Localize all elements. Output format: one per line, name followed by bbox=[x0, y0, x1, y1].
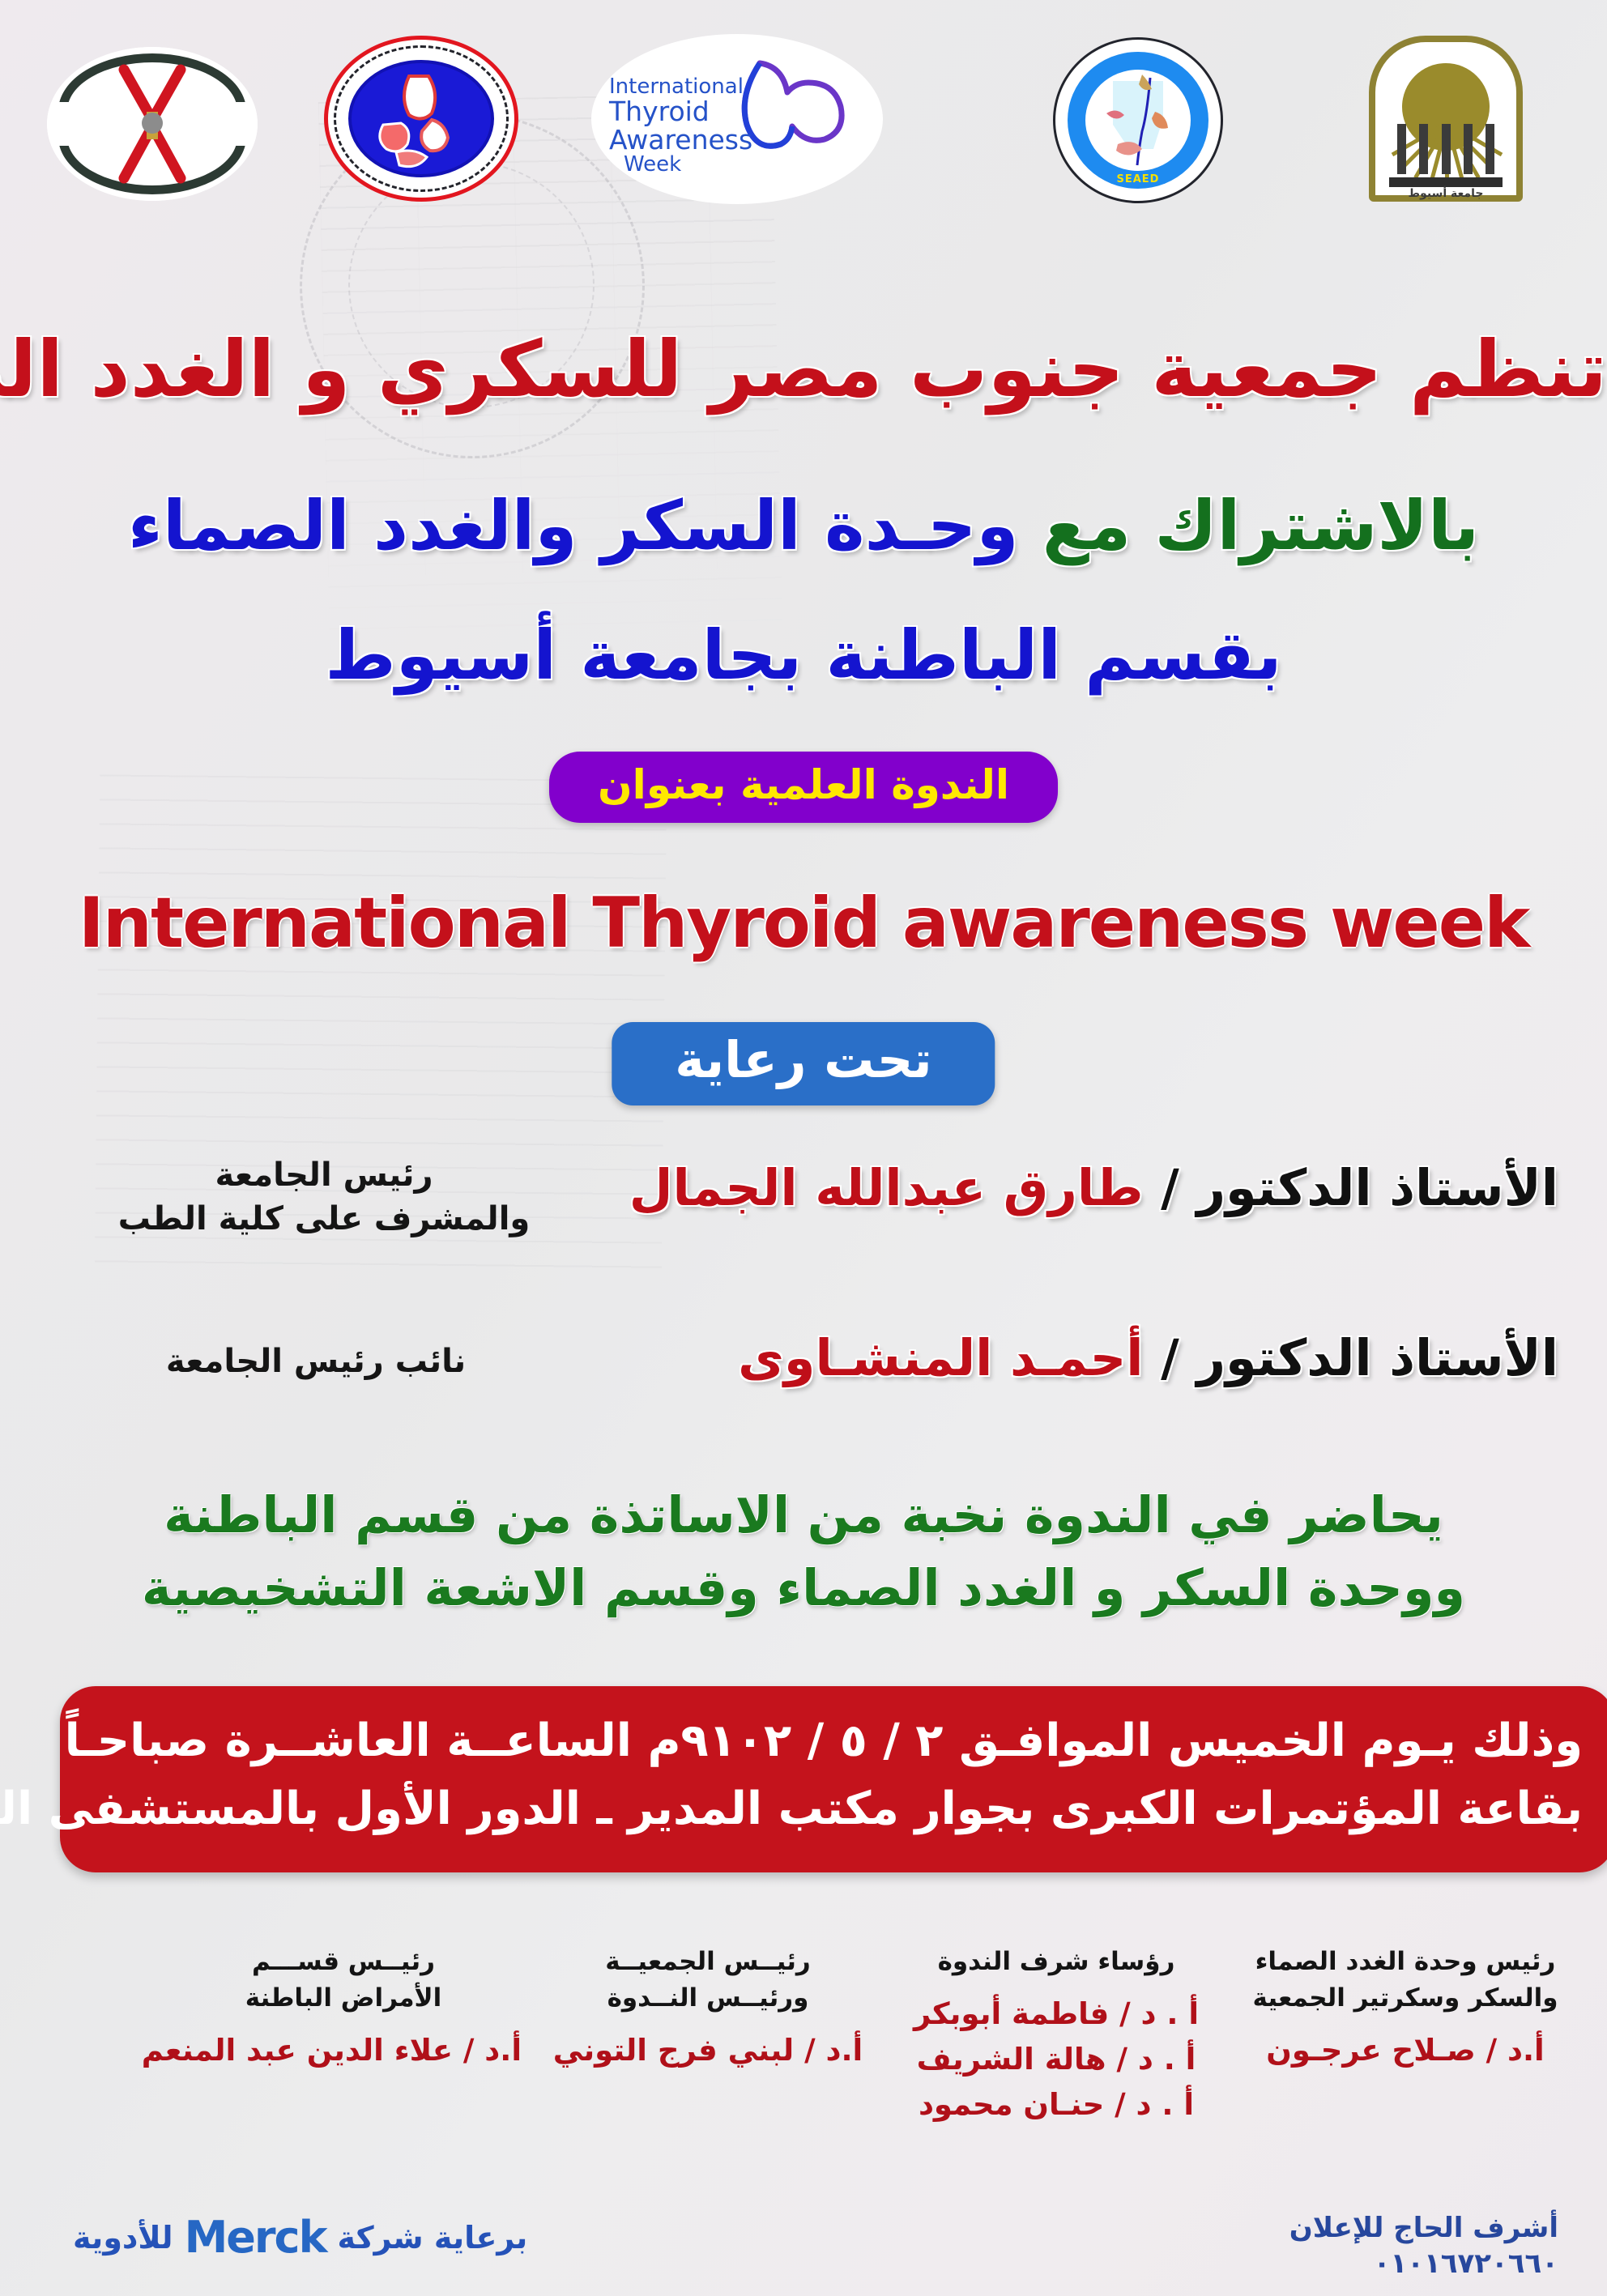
patron-1-role-line-2: والمشرف على كلية الطب bbox=[97, 1197, 551, 1241]
committee-2-role-line-1: رؤساء شرف الندوة bbox=[886, 1944, 1226, 1980]
sponsor-line: برعاية شركة Merck للأدوية bbox=[73, 2212, 527, 2263]
committee-2-name-2: أ . د / هالة الشريف bbox=[886, 2038, 1226, 2081]
pillars-icon bbox=[1397, 124, 1494, 174]
advertiser-name: أشرف الحاج للإعلان bbox=[1289, 2210, 1558, 2246]
patronage-badge: تحت رعاية bbox=[612, 1022, 995, 1105]
committee-4-name-1: أ.د / علاء الدين عبد المنعم bbox=[165, 2030, 522, 2072]
committee-column-endocrine-head: رئيس وحدة الغدد الصماء والسكر وسكرتير ال… bbox=[1231, 1944, 1579, 2072]
organizer-line-2-blue: وحـدة السكر والغدد الصماء bbox=[128, 486, 1019, 565]
patron-2-role: نائب رئيس الجامعة bbox=[89, 1340, 543, 1383]
committee-3-name-1: أ.د / لبني فرج التوني bbox=[538, 2030, 878, 2072]
advertiser-phone: ٠١٠١٦٧٢٠٦٦٠ bbox=[1289, 2246, 1558, 2281]
committee-column-internal-medicine-head: رئيــس قســـم الأمراض الباطنة أ.د / علاء… bbox=[165, 1944, 522, 2072]
patron-2-name-line: الأستاذ الدكتور / أحمـد المنشـاوى bbox=[738, 1328, 1558, 1387]
event-details-banner: وذلك يـوم الخميس الموافـق ٢ / ٥ / ٢٠١٩م … bbox=[60, 1686, 1607, 1872]
assiut-university-name: جامعة أسيوط bbox=[1369, 187, 1523, 200]
seaed-acronym: SEAED bbox=[1053, 173, 1223, 185]
event-date-time: وذلك يـوم الخميس الموافـق ٢ / ٥ / ٢٠١٩م … bbox=[92, 1707, 1583, 1775]
poster-footer: برعاية شركة Merck للأدوية أشرف الحاج للإ… bbox=[0, 2207, 1607, 2296]
assiut-university-logo: جامعة أسيوط bbox=[1369, 36, 1523, 202]
caduceus-icon bbox=[108, 63, 197, 185]
logo-row: International Thyroid Awareness Week SEA bbox=[0, 24, 1607, 198]
patron-row-2: الأستاذ الدكتور / أحمـد المنشـاوى نائب ر… bbox=[0, 1328, 1607, 1425]
committee-1-role-line-2: والسكر وسكرتير الجمعية bbox=[1231, 1980, 1579, 2017]
committee-row: رئيس وحدة الغدد الصماء والسكر وسكرتير ال… bbox=[0, 1944, 1607, 2187]
logo-line-awareness: Awareness bbox=[609, 124, 752, 155]
thyroid-organ-icon bbox=[360, 62, 482, 183]
committee-3-role-line-1: رئيــس الجمعيــة bbox=[538, 1944, 878, 1980]
committee-4-role-line-1: رئيــس قســـم bbox=[165, 1944, 522, 1980]
patron-2-name: أحمـد المنشـاوى bbox=[738, 1328, 1143, 1387]
organizer-line-2: بالاشتراك مع وحـدة السكر والغدد الصماء bbox=[0, 486, 1607, 565]
committee-column-honorary-chairs: رؤساء شرف الندوة أ . د / فاطمة أبوبكر أ … bbox=[886, 1944, 1226, 2125]
cardiology-endocrinology-rheumatology-logo bbox=[47, 47, 258, 201]
organizer-line-1: تنظم جمعية جنوب مصر للسكري و الغدد الصما… bbox=[0, 324, 1607, 415]
patron-2-title: الأستاذ الدكتور / bbox=[1161, 1328, 1558, 1387]
patron-row-1: الأستاذ الدكتور / طارق عبدالله الجمال رئ… bbox=[0, 1158, 1607, 1255]
sponsor-suffix: للأدوية bbox=[73, 2220, 173, 2256]
lecturers-line-2: ووحدة السكر و الغدد الصماء وقسم الاشعة ا… bbox=[0, 1552, 1607, 1625]
thyroid-week-wordmark: International Thyroid Awareness Week bbox=[609, 73, 771, 176]
sponsor-prefix: برعاية شركة bbox=[337, 2220, 527, 2256]
egypt-map-icon bbox=[1085, 70, 1191, 171]
committee-4-role-line-2: الأمراض الباطنة bbox=[165, 1980, 522, 2017]
advertiser-credit: أشرف الحاج للإعلان ٠١٠١٦٧٢٠٦٦٠ bbox=[1289, 2210, 1558, 2281]
committee-3-role-line-2: ورئيــس النــدوة bbox=[538, 1980, 878, 2017]
organizer-line-3: بقسم الباطنة بجامعة أسيوط bbox=[0, 616, 1607, 695]
committee-1-role-line-1: رئيس وحدة الغدد الصماء bbox=[1231, 1944, 1579, 1980]
patron-1-name: طارق عبدالله الجمال bbox=[629, 1158, 1144, 1217]
poster-canvas: International Thyroid Awareness Week SEA bbox=[0, 0, 1607, 2296]
committee-2-name-1: أ . د / فاطمة أبوبكر bbox=[886, 1993, 1226, 2035]
committee-1-name-1: أ.د / صـلاح عرجـون bbox=[1231, 2030, 1579, 2072]
organizer-line-2-green: بالاشتراك مع bbox=[1042, 486, 1479, 565]
english-event-title: International Thyroid awareness week bbox=[0, 883, 1607, 964]
logo-line-thyroid: Thyroid bbox=[609, 96, 710, 127]
international-thyroid-awareness-week-logo: International Thyroid Awareness Week bbox=[591, 34, 883, 204]
seminar-title-badge: الندوة العلمية بعنوان bbox=[549, 752, 1058, 823]
patron-1-name-line: الأستاذ الدكتور / طارق عبدالله الجمال bbox=[629, 1158, 1558, 1217]
lecturers-block: يحاضر في الندوة نخبة من الاساتذة من قسم … bbox=[0, 1479, 1607, 1625]
patron-1-role-line-1: رئيس الجامعة bbox=[97, 1153, 551, 1197]
committee-2-name-3: أ . د / حنـان محمود bbox=[886, 2084, 1226, 2126]
lecturers-line-1: يحاضر في الندوة نخبة من الاساتذة من قسم … bbox=[0, 1479, 1607, 1552]
merck-wordmark: Merck bbox=[185, 2212, 326, 2263]
logo-line-week: Week bbox=[609, 154, 771, 176]
committee-column-society-president: رئيــس الجمعيــة ورئيــس النــدوة أ.د / … bbox=[538, 1944, 878, 2072]
patron-1-title: الأستاذ الدكتور / bbox=[1161, 1158, 1558, 1217]
endocrinology-diabetes-unit-logo bbox=[324, 36, 518, 202]
seaed-logo: SEAED bbox=[1053, 37, 1223, 203]
patron-1-role: رئيس الجامعة والمشرف على كلية الطب bbox=[97, 1153, 551, 1241]
patron-2-role-line-1: نائب رئيس الجامعة bbox=[89, 1340, 543, 1383]
event-venue: بقاعة المؤتمرات الكبرى بجوار مكتب المدير… bbox=[92, 1775, 1583, 1843]
